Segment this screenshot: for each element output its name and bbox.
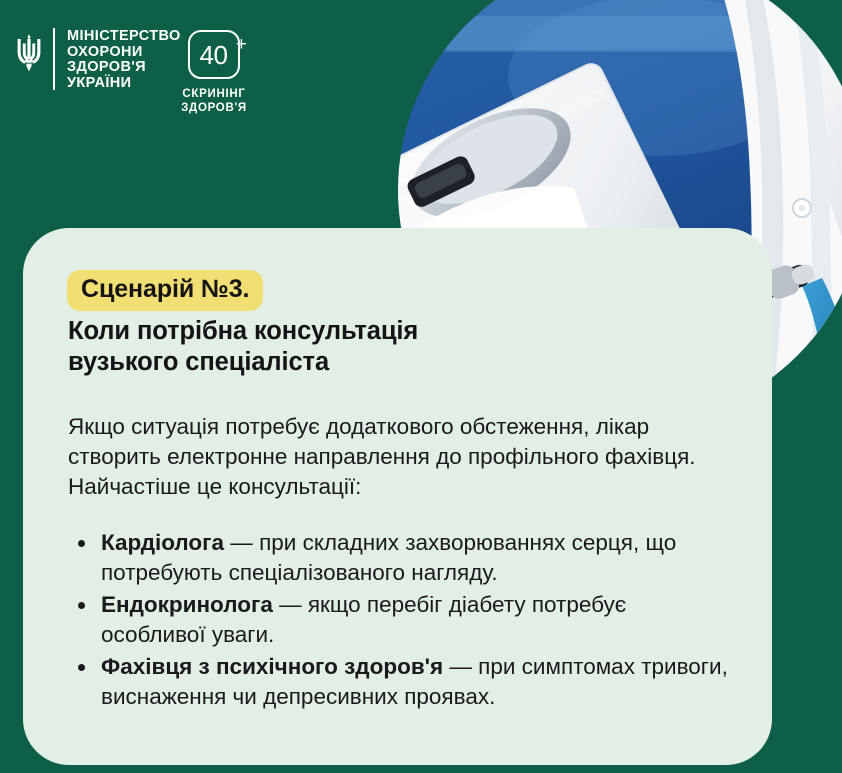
list-item-dash: —: [273, 592, 308, 617]
specialist-list: Кардіолога — при складних захворюваннях …: [67, 528, 728, 712]
badge-caption: СКРИНІНГ ЗДОРОВ'Я: [181, 88, 247, 115]
content-card: Сценарій №3. Коли потрібна консультація …: [23, 228, 772, 765]
list-item-term: Фахівця з психічного здоров'я: [101, 654, 443, 679]
bullet-dot-icon: [78, 602, 85, 609]
badge-plus-sign: +: [236, 35, 247, 54]
list-item-term: Ендокринолога: [101, 592, 273, 617]
list-item-dash: —: [443, 654, 478, 679]
headline-line-2: вузького спеціаліста: [68, 347, 728, 378]
list-item: Ендокринолога — якщо перебіг діабету пот…: [67, 590, 728, 650]
ministry-line-3: ЗДОРОВ'Я: [67, 60, 181, 76]
ministry-line-2: ОХОРОНИ: [67, 45, 181, 61]
list-item-term: Кардіолога: [101, 530, 224, 555]
badge-frame-icon: 40 +: [188, 30, 240, 79]
poster-header: МІНІСТЕРСТВО ОХОРОНИ ЗДОРОВ'Я УКРАЇНИ 40…: [0, 0, 842, 228]
page-title: Коли потрібна консультація вузького спец…: [67, 316, 728, 378]
headline-line-1: Коли потрібна консультація: [68, 316, 728, 347]
badge-caption-line-2: ЗДОРОВ'Я: [181, 102, 247, 116]
scenario-eyebrow-badge: Сценарій №3.: [67, 270, 263, 311]
ukraine-trident-emblem-icon: [14, 32, 44, 74]
ministry-line-4: УКРАЇНИ: [67, 76, 181, 92]
scenario-eyebrow-wrap: Сценарій №3.: [67, 270, 263, 311]
bullet-dot-icon: [78, 540, 85, 547]
ministry-line-1: МІНІСТЕРСТВО: [67, 29, 181, 45]
intro-paragraph: Якщо ситуація потребує додаткового обсте…: [67, 412, 708, 502]
list-item-dash: —: [224, 530, 259, 555]
screening-badge: 40 + СКРИНІНГ ЗДОРОВ'Я: [168, 30, 260, 115]
ministry-name: МІНІСТЕРСТВО ОХОРОНИ ЗДОРОВ'Я УКРАЇНИ: [67, 28, 181, 91]
badge-number: 40: [200, 42, 228, 68]
badge-caption-line-1: СКРИНІНГ: [181, 88, 247, 102]
logo-divider: [53, 28, 55, 90]
list-item: Кардіолога — при складних захворюваннях …: [67, 528, 728, 588]
list-item: Фахівця з психічного здоров'я — при симп…: [67, 652, 728, 712]
ministry-logo: МІНІСТЕРСТВО ОХОРОНИ ЗДОРОВ'Я УКРАЇНИ: [14, 28, 181, 91]
infographic-poster: МІНІСТЕРСТВО ОХОРОНИ ЗДОРОВ'Я УКРАЇНИ 40…: [0, 0, 842, 773]
bullet-dot-icon: [78, 664, 85, 671]
